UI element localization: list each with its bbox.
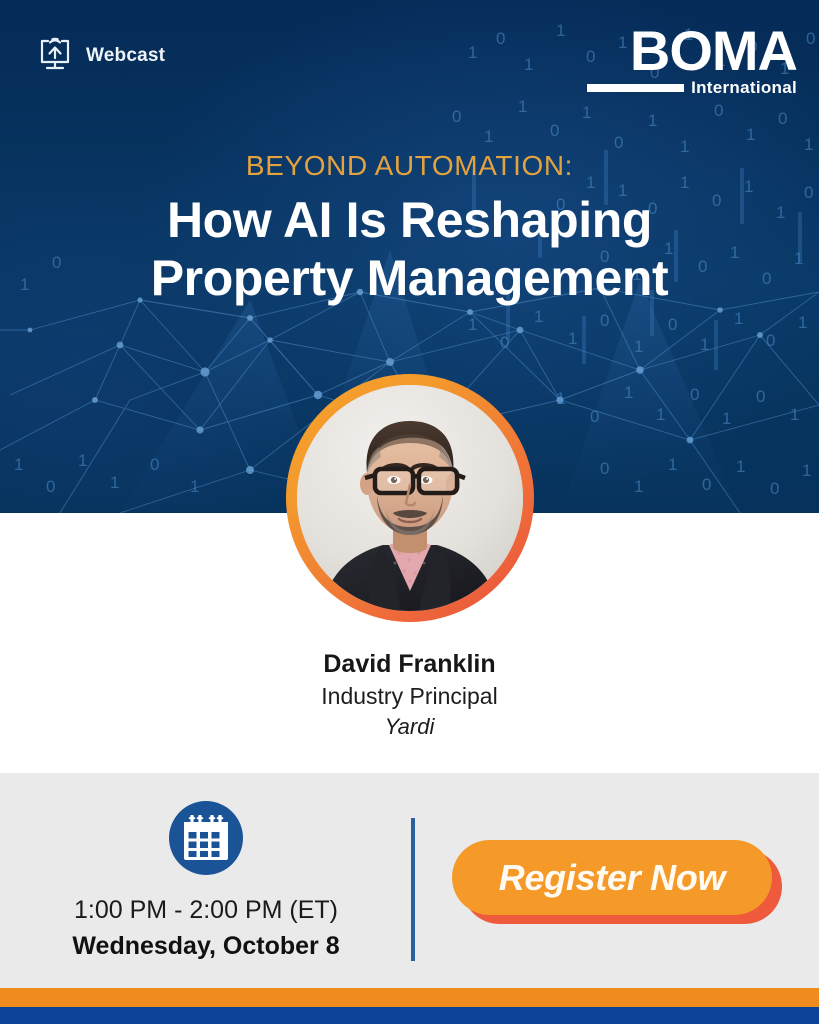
webcast-monitor-wifi-icon (34, 32, 76, 79)
calendar-icon-holder (0, 799, 412, 882)
svg-text:0: 0 (550, 121, 559, 140)
webcast-label: Webcast (86, 45, 165, 67)
speaker-details: David Franklin Industry Principal Yardi (0, 648, 819, 741)
event-date: Wednesday, October 8 (0, 930, 412, 964)
headline-line-2: Property Management (0, 250, 819, 308)
svg-text:0: 0 (600, 459, 609, 478)
calendar-icon (167, 799, 245, 882)
svg-text:1: 1 (110, 473, 119, 492)
avatar (297, 385, 523, 611)
webcast-badge: Webcast (34, 32, 165, 79)
register-cta-wrap: Register Now (452, 840, 782, 924)
boma-logo-bar (587, 84, 684, 92)
footer-stripe-orange (0, 988, 819, 1007)
svg-text:0: 0 (600, 311, 609, 330)
speaker-role: Industry Principal (0, 681, 819, 712)
svg-text:0: 0 (690, 385, 699, 404)
svg-text:1: 1 (734, 309, 743, 328)
svg-text:0: 0 (806, 29, 815, 48)
svg-text:1: 1 (648, 111, 657, 130)
svg-text:0: 0 (590, 407, 599, 426)
page-title: How AI Is Reshaping Property Management (0, 192, 819, 307)
svg-text:1: 1 (624, 383, 633, 402)
register-now-button[interactable]: Register Now (452, 840, 772, 915)
svg-text:1: 1 (484, 127, 493, 146)
boma-subtitle-row: International (587, 79, 797, 96)
svg-text:1: 1 (14, 455, 23, 474)
svg-text:1: 1 (656, 405, 665, 424)
svg-text:0: 0 (496, 29, 505, 48)
boma-subtitle: International (691, 79, 797, 96)
eyebrow-text: BEYOND AUTOMATION: (0, 150, 819, 182)
svg-text:1: 1 (78, 451, 87, 470)
svg-text:1: 1 (668, 455, 677, 474)
speaker-avatar-ring (286, 374, 534, 622)
event-datetime-block: 1:00 PM - 2:00 PM (ET) Wednesday, Octobe… (0, 799, 412, 964)
svg-text:1: 1 (722, 409, 731, 428)
boma-wordmark: BOMA (587, 24, 797, 77)
speaker-name: David Franklin (0, 648, 819, 681)
svg-text:1: 1 (700, 335, 709, 354)
svg-text:1: 1 (634, 337, 643, 356)
svg-text:0: 0 (770, 479, 779, 498)
svg-text:1: 1 (802, 461, 811, 480)
svg-text:0: 0 (756, 387, 765, 406)
svg-text:1: 1 (534, 307, 543, 326)
svg-text:1: 1 (736, 457, 745, 476)
svg-text:1: 1 (524, 55, 533, 74)
title-block: BEYOND AUTOMATION: How AI Is Reshaping P… (0, 150, 819, 307)
svg-text:1: 1 (790, 405, 799, 424)
svg-text:1: 1 (468, 43, 477, 62)
headshot-photo (297, 385, 523, 611)
svg-text:1: 1 (746, 125, 755, 144)
boma-logo: BOMA International (587, 24, 797, 96)
svg-text:1: 1 (634, 477, 643, 496)
svg-text:0: 0 (702, 475, 711, 494)
event-time: 1:00 PM - 2:00 PM (ET) (0, 894, 412, 928)
svg-text:0: 0 (714, 101, 723, 120)
svg-text:1: 1 (568, 329, 577, 348)
svg-text:1: 1 (556, 21, 565, 40)
speaker-company: Yardi (0, 712, 819, 742)
svg-text:0: 0 (778, 109, 787, 128)
svg-text:1: 1 (190, 477, 199, 496)
svg-text:1: 1 (798, 313, 807, 332)
svg-text:0: 0 (452, 107, 461, 126)
svg-text:0: 0 (150, 455, 159, 474)
svg-text:0: 0 (668, 315, 677, 334)
vertical-divider (411, 818, 415, 961)
svg-text:1: 1 (556, 389, 565, 408)
webcast-promo-poster: 101 101 011 010 011 010 110 101 101 011 … (0, 0, 819, 1024)
svg-text:0: 0 (766, 331, 775, 350)
svg-text:0: 0 (46, 477, 55, 496)
footer-stripe-blue (0, 1007, 819, 1024)
svg-text:1: 1 (518, 97, 527, 116)
headline-line-1: How AI Is Reshaping (0, 192, 819, 250)
svg-text:1: 1 (582, 103, 591, 122)
svg-text:1: 1 (468, 315, 477, 334)
